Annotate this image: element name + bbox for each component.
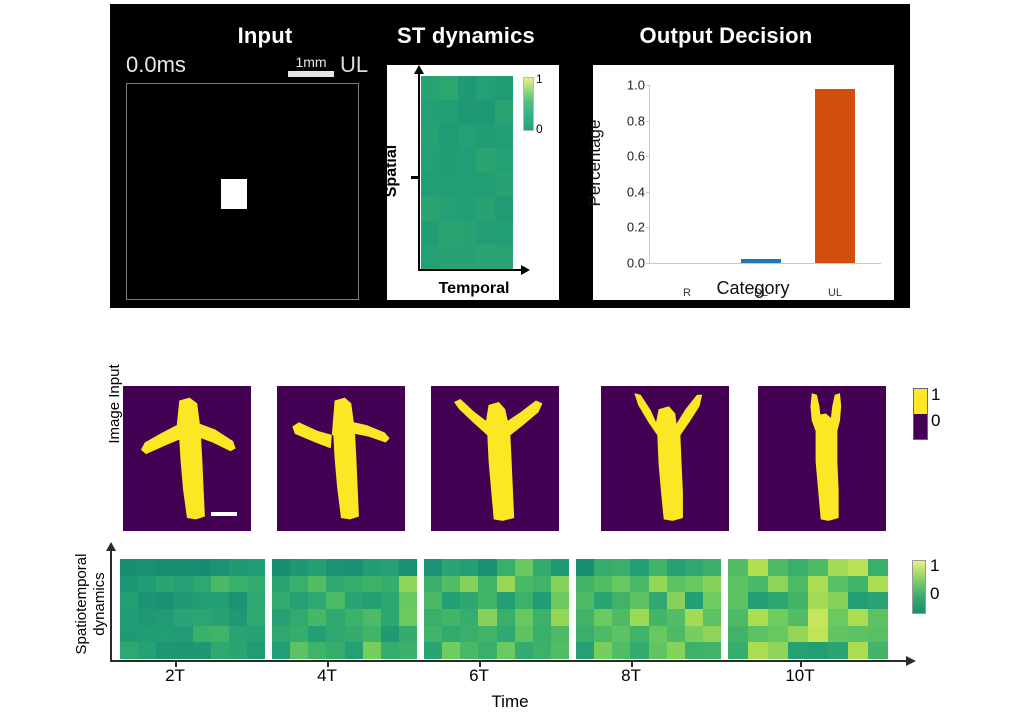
heatmap-cell xyxy=(156,609,174,626)
heatmap-cell xyxy=(848,626,868,643)
heatmap-cell xyxy=(326,559,344,576)
heatmap-cell xyxy=(156,626,174,643)
y-axis-tick-label: 0.0 xyxy=(627,256,645,271)
heatmap-cell xyxy=(424,626,442,643)
heatmap-cell xyxy=(868,642,888,659)
heatmap-cell xyxy=(868,576,888,593)
heatmap-cell xyxy=(649,609,667,626)
heatmap-cell xyxy=(272,609,290,626)
heatmap-cell xyxy=(247,609,265,626)
heatmap-cell xyxy=(229,626,247,643)
time-tick-label-6T: 6T xyxy=(469,666,489,686)
heatmap-cell xyxy=(345,609,363,626)
heatmap-cell xyxy=(156,592,174,609)
heatmap-cell xyxy=(748,626,768,643)
heatmap-cell xyxy=(685,576,703,593)
heatmap-cell xyxy=(868,592,888,609)
st-dynamics-ylabel: Spatial xyxy=(383,123,401,219)
output-decision-plot-area: 0.00.20.40.60.81.0RDLUL xyxy=(649,85,871,263)
st-dynamics-colorbar xyxy=(523,77,534,131)
y-axis-tick-label: 0.2 xyxy=(627,220,645,235)
heatmap-cell xyxy=(788,576,808,593)
spatiotemporal-heatmap-4T xyxy=(272,559,417,659)
heatmap-cell xyxy=(458,221,476,245)
heatmap-cell xyxy=(442,576,460,593)
heatmap-cell xyxy=(703,576,721,593)
image-input-frame-2T xyxy=(123,386,251,531)
heatmap-cell xyxy=(211,609,229,626)
heatmap-cell xyxy=(421,221,439,245)
heatmap-cell xyxy=(768,609,788,626)
heatmap-cell xyxy=(788,559,808,576)
heatmap-cell xyxy=(768,576,788,593)
heatmap-cell xyxy=(458,100,476,124)
heatmap-cell xyxy=(533,642,551,659)
heatmap-cell xyxy=(533,559,551,576)
heatmap-cell xyxy=(868,626,888,643)
heatmap-cell xyxy=(533,609,551,626)
spatiotemporal-heatmap-6T xyxy=(424,559,569,659)
heatmap-cell xyxy=(290,609,308,626)
time-tick-label-4T: 4T xyxy=(317,666,337,686)
heatmap-cell xyxy=(458,245,476,269)
spatial-axis-arrow xyxy=(418,73,420,271)
heatmap-cell xyxy=(458,124,476,148)
heatmap-cell xyxy=(211,576,229,593)
heatmap-cell xyxy=(156,576,174,593)
st-dynamics-xlabel: Temporal xyxy=(419,280,529,298)
heatmap-cell xyxy=(649,559,667,576)
heatmap-cell xyxy=(478,559,496,576)
heatmap-cell xyxy=(576,559,594,576)
heatmap-cell xyxy=(439,245,457,269)
heatmap-cell xyxy=(594,642,612,659)
heatmap-cell xyxy=(156,559,174,576)
heatmap-cell xyxy=(193,626,211,643)
heatmap-cell xyxy=(460,576,478,593)
heatmap-cell xyxy=(703,559,721,576)
heatmap-cell xyxy=(685,642,703,659)
heatmap-cell xyxy=(728,559,748,576)
heatmap-cell xyxy=(576,592,594,609)
spatiotemporal-heatmap-10T xyxy=(728,559,888,659)
heatmap-cell xyxy=(649,626,667,643)
top-summary-panel: Input ST dynamics Output Decision 0.0ms … xyxy=(110,4,910,308)
heatmap-cell xyxy=(649,642,667,659)
heatmap-cell xyxy=(808,626,828,643)
heatmap-cell xyxy=(667,592,685,609)
colorbar-swatch xyxy=(914,389,927,414)
y-axis-tick-mark xyxy=(646,156,650,157)
heatmap-cell xyxy=(594,592,612,609)
spatiotemporal-heatmap-2T xyxy=(120,559,265,659)
stick-figure-silhouette xyxy=(277,386,405,531)
heatmap-cell xyxy=(458,197,476,221)
heatmap-cell xyxy=(848,609,868,626)
bar-UL xyxy=(815,89,855,263)
heatmap-cell xyxy=(308,559,326,576)
heatmap-cell xyxy=(460,559,478,576)
heatmap-cell xyxy=(478,592,496,609)
heatmap-cell xyxy=(229,592,247,609)
heatmap-cell xyxy=(497,576,515,593)
heatmap-cell xyxy=(848,559,868,576)
heatmap-cell xyxy=(515,642,533,659)
heatmap-cell xyxy=(290,592,308,609)
heatmap-cell xyxy=(290,559,308,576)
scalebar-line xyxy=(288,71,334,77)
heatmap-cell xyxy=(576,626,594,643)
input-stimulus-panel: 0.0ms 1mm UL xyxy=(126,52,368,300)
heatmap-cell xyxy=(848,592,868,609)
heatmap-cell xyxy=(848,642,868,659)
heatmap-cell xyxy=(247,626,265,643)
heatmap-cell xyxy=(421,100,439,124)
image-input-frame-4T xyxy=(277,386,405,531)
heatmap-cell xyxy=(211,559,229,576)
heatmap-cell xyxy=(748,642,768,659)
heatmap-cell xyxy=(497,642,515,659)
heatmap-cell xyxy=(495,124,513,148)
output-decision-panel-title: Output Decision xyxy=(582,23,870,49)
heatmap-cell xyxy=(229,559,247,576)
heatmap-cell xyxy=(788,626,808,643)
heatmap-cell xyxy=(768,642,788,659)
heatmap-cell xyxy=(788,609,808,626)
heatmap-cell xyxy=(458,76,476,100)
heatmap-cell xyxy=(399,626,417,643)
heatmap-cell xyxy=(326,626,344,643)
scalebar-label: 1mm xyxy=(280,54,342,70)
heatmap-cell xyxy=(667,559,685,576)
heatmap-cell xyxy=(476,221,494,245)
heatmap-cell xyxy=(551,626,569,643)
heatmap-cell xyxy=(229,576,247,593)
time-axis-line xyxy=(110,660,907,662)
heatmap-cell xyxy=(442,642,460,659)
heatmap-cell xyxy=(174,576,192,593)
time-axis-label: Time xyxy=(430,692,590,712)
heatmap-cell xyxy=(495,173,513,197)
heatmap-cell xyxy=(478,626,496,643)
heatmap-cell xyxy=(478,576,496,593)
heatmap-cell xyxy=(421,173,439,197)
input-class-label: UL xyxy=(340,52,368,78)
heatmap-cell xyxy=(497,609,515,626)
heatmap-cell xyxy=(381,592,399,609)
heatmap-cell xyxy=(649,576,667,593)
heatmap-cell xyxy=(442,559,460,576)
heatmap-cell xyxy=(551,592,569,609)
heatmap-cell xyxy=(308,626,326,643)
image-colorbar-min-label: 0 xyxy=(931,411,940,431)
heatmap-cell xyxy=(399,609,417,626)
heatmap-cell xyxy=(421,76,439,100)
heatmap-cell xyxy=(685,609,703,626)
y-axis-tick-label: 1.0 xyxy=(627,78,645,93)
heatmap-cell xyxy=(174,642,192,659)
heatmap-cell xyxy=(247,559,265,576)
heatmap-cell xyxy=(120,576,138,593)
heatmap-cell xyxy=(326,609,344,626)
heatmap-cell xyxy=(703,626,721,643)
heatmap-cell xyxy=(439,124,457,148)
heatmap-cell xyxy=(460,642,478,659)
heatmap-cell xyxy=(399,559,417,576)
heatmap-cell xyxy=(290,626,308,643)
heatmap-cell xyxy=(630,592,648,609)
spatiotemporal-colorbar xyxy=(912,560,926,614)
heatmap-cell xyxy=(497,626,515,643)
heatmap-cell xyxy=(345,626,363,643)
input-stimulus-square xyxy=(221,179,247,209)
heatmap-cell xyxy=(868,559,888,576)
heatmap-cell xyxy=(458,148,476,172)
heatmap-cell xyxy=(308,576,326,593)
heatmap-cell xyxy=(399,592,417,609)
heatmap-cell xyxy=(728,609,748,626)
heatmap-cell xyxy=(495,76,513,100)
heatmap-cell xyxy=(612,592,630,609)
heatmap-cell xyxy=(439,148,457,172)
heatmap-cell xyxy=(703,642,721,659)
heatmap-cell xyxy=(495,197,513,221)
heatmap-cell xyxy=(424,576,442,593)
heatmap-cell xyxy=(229,642,247,659)
heatmap-cell xyxy=(381,609,399,626)
heatmap-cell xyxy=(685,626,703,643)
heatmap-cell xyxy=(308,642,326,659)
heatmap-cell xyxy=(326,576,344,593)
heatmap-cell xyxy=(685,592,703,609)
stick-figure-silhouette xyxy=(123,386,251,531)
heatmap-cell xyxy=(174,609,192,626)
heatmap-cell xyxy=(768,626,788,643)
st-colorbar-max-label: 1 xyxy=(536,72,543,86)
heatmap-cell xyxy=(439,221,457,245)
heatmap-cell xyxy=(630,642,648,659)
heatmap-cell xyxy=(576,609,594,626)
time-tick-label-2T: 2T xyxy=(165,666,185,686)
output-decision-chart: Percentage 0.00.20.40.60.81.0RDLUL Categ… xyxy=(593,65,894,300)
heatmap-cell xyxy=(247,642,265,659)
heatmap-cell xyxy=(667,576,685,593)
heatmap-cell xyxy=(476,148,494,172)
heatmap-cell xyxy=(808,576,828,593)
heatmap-cell xyxy=(808,592,828,609)
heatmap-cell xyxy=(515,576,533,593)
heatmap-cell xyxy=(345,576,363,593)
heatmap-cell xyxy=(828,642,848,659)
heatmap-cell xyxy=(808,559,828,576)
image-input-row-label: Image Input xyxy=(106,344,123,464)
heatmap-cell xyxy=(533,576,551,593)
heatmap-cell xyxy=(551,642,569,659)
heatmap-cell xyxy=(421,197,439,221)
heatmap-cell xyxy=(748,592,768,609)
y-axis-tick-mark xyxy=(646,121,650,122)
heatmap-cell xyxy=(138,642,156,659)
heatmap-cell xyxy=(290,576,308,593)
heatmap-cell xyxy=(421,148,439,172)
heatmap-cell xyxy=(497,559,515,576)
y-axis-tick-mark xyxy=(646,192,650,193)
heatmap-cell xyxy=(399,576,417,593)
heatmap-cell xyxy=(308,609,326,626)
heatmap-cell xyxy=(748,576,768,593)
heatmap-cell xyxy=(138,626,156,643)
heatmap-cell xyxy=(667,609,685,626)
heatmap-cell xyxy=(138,609,156,626)
heatmap-cell xyxy=(120,626,138,643)
heatmap-cell xyxy=(399,642,417,659)
heatmap-cell xyxy=(478,609,496,626)
heatmap-cell xyxy=(612,626,630,643)
heatmap-cell xyxy=(667,642,685,659)
heatmap-cell xyxy=(551,559,569,576)
heatmap-cell xyxy=(421,245,439,269)
heatmap-cell xyxy=(308,592,326,609)
heatmap-cell xyxy=(247,576,265,593)
heatmap-cell xyxy=(272,592,290,609)
heatmap-cell xyxy=(828,609,848,626)
heatmap-cell xyxy=(630,609,648,626)
input-panel-title: Input xyxy=(162,23,368,49)
output-decision-baseline xyxy=(649,263,881,264)
colorbar-swatch xyxy=(914,414,927,439)
heatmap-cell xyxy=(363,609,381,626)
heatmap-cell xyxy=(768,592,788,609)
heatmap-cell xyxy=(363,642,381,659)
heatmap-cell xyxy=(612,609,630,626)
heatmap-cell xyxy=(174,559,192,576)
heatmap-cell xyxy=(476,124,494,148)
st-dynamics-heatmap xyxy=(421,76,513,269)
heatmap-cell xyxy=(828,559,848,576)
heatmap-cell xyxy=(495,245,513,269)
heatmap-cell xyxy=(272,576,290,593)
heatmap-cell xyxy=(138,592,156,609)
y-axis-tick-label: 0.4 xyxy=(627,184,645,199)
spatial-axis-tick xyxy=(411,176,419,179)
heatmap-cell xyxy=(808,642,828,659)
heatmap-cell xyxy=(424,592,442,609)
heatmap-cell xyxy=(363,592,381,609)
heatmap-cell xyxy=(174,626,192,643)
heatmap-cell xyxy=(828,592,848,609)
st-dynamics-panel-title: ST dynamics xyxy=(378,23,554,49)
heatmap-cell xyxy=(476,197,494,221)
heatmap-cell xyxy=(533,592,551,609)
heatmap-cell xyxy=(594,626,612,643)
heatmap-cell xyxy=(476,100,494,124)
heatmap-cell xyxy=(272,642,290,659)
heatmap-cell xyxy=(612,559,630,576)
heatmap-cell xyxy=(515,609,533,626)
heatmap-cell xyxy=(421,124,439,148)
heatmap-cell xyxy=(630,576,648,593)
heatmap-cell xyxy=(439,173,457,197)
heatmap-cell xyxy=(685,559,703,576)
heatmap-cell xyxy=(381,626,399,643)
heatmap-cell xyxy=(828,626,848,643)
heatmap-cell xyxy=(703,609,721,626)
spatiotemporal-colorbar-max-label: 1 xyxy=(930,556,939,576)
heatmap-cell xyxy=(156,642,174,659)
heatmap-cell xyxy=(728,592,748,609)
heatmap-cell xyxy=(788,642,808,659)
time-tick-label-10T: 10T xyxy=(785,666,814,686)
heatmap-cell xyxy=(748,609,768,626)
st-dynamics-chart: Spatial Temporal 1 0 xyxy=(387,65,559,300)
heatmap-cell xyxy=(768,559,788,576)
heatmap-cell xyxy=(495,100,513,124)
output-decision-xlabel: Category xyxy=(653,278,853,299)
heatmap-cell xyxy=(439,100,457,124)
y-axis-tick-mark xyxy=(646,227,650,228)
heatmap-cell xyxy=(728,642,748,659)
heatmap-cell xyxy=(703,592,721,609)
heatmap-cell xyxy=(272,559,290,576)
heatmap-cell xyxy=(630,559,648,576)
input-image-frame xyxy=(126,83,359,300)
heatmap-cell xyxy=(381,576,399,593)
heatmap-cell xyxy=(326,592,344,609)
heatmap-cell xyxy=(458,173,476,197)
heatmap-cell xyxy=(326,642,344,659)
heatmap-cell xyxy=(211,626,229,643)
input-scalebar: 1mm xyxy=(280,54,342,77)
frame-scalebar xyxy=(211,512,237,516)
heatmap-cell xyxy=(345,592,363,609)
heatmap-cell xyxy=(515,626,533,643)
heatmap-cell xyxy=(424,642,442,659)
heatmap-cell xyxy=(460,626,478,643)
input-timestamp: 0.0ms xyxy=(126,52,186,78)
image-colorbar-max-label: 1 xyxy=(931,385,940,405)
heatmap-cell xyxy=(649,592,667,609)
image-input-frame-8T xyxy=(601,386,729,531)
stick-figure-silhouette xyxy=(431,386,559,531)
heatmap-cell xyxy=(612,642,630,659)
figure-root: Input ST dynamics Output Decision 0.0ms … xyxy=(0,0,1017,714)
y-axis-tick-label: 0.8 xyxy=(627,113,645,128)
heatmap-cell xyxy=(808,609,828,626)
heatmap-cell xyxy=(290,642,308,659)
heatmap-cell xyxy=(515,592,533,609)
heatmap-cell xyxy=(345,642,363,659)
image-input-frame-10T xyxy=(758,386,886,531)
heatmap-cell xyxy=(381,642,399,659)
heatmap-cell xyxy=(193,642,211,659)
heatmap-cell xyxy=(193,559,211,576)
heatmap-cell xyxy=(424,559,442,576)
heatmap-cell xyxy=(495,221,513,245)
heatmap-cell xyxy=(120,592,138,609)
heatmap-cell xyxy=(120,609,138,626)
heatmap-cell xyxy=(363,559,381,576)
heatmap-cell xyxy=(120,642,138,659)
heatmap-cell xyxy=(381,559,399,576)
spatiotemporal-colorbar-min-label: 0 xyxy=(930,584,939,604)
heatmap-cell xyxy=(460,609,478,626)
stick-figure-silhouette xyxy=(758,386,886,531)
time-tick-label-8T: 8T xyxy=(621,666,641,686)
heatmap-cell xyxy=(533,626,551,643)
heatmap-cell xyxy=(460,592,478,609)
heatmap-cell xyxy=(442,609,460,626)
heatmap-cell xyxy=(439,76,457,100)
